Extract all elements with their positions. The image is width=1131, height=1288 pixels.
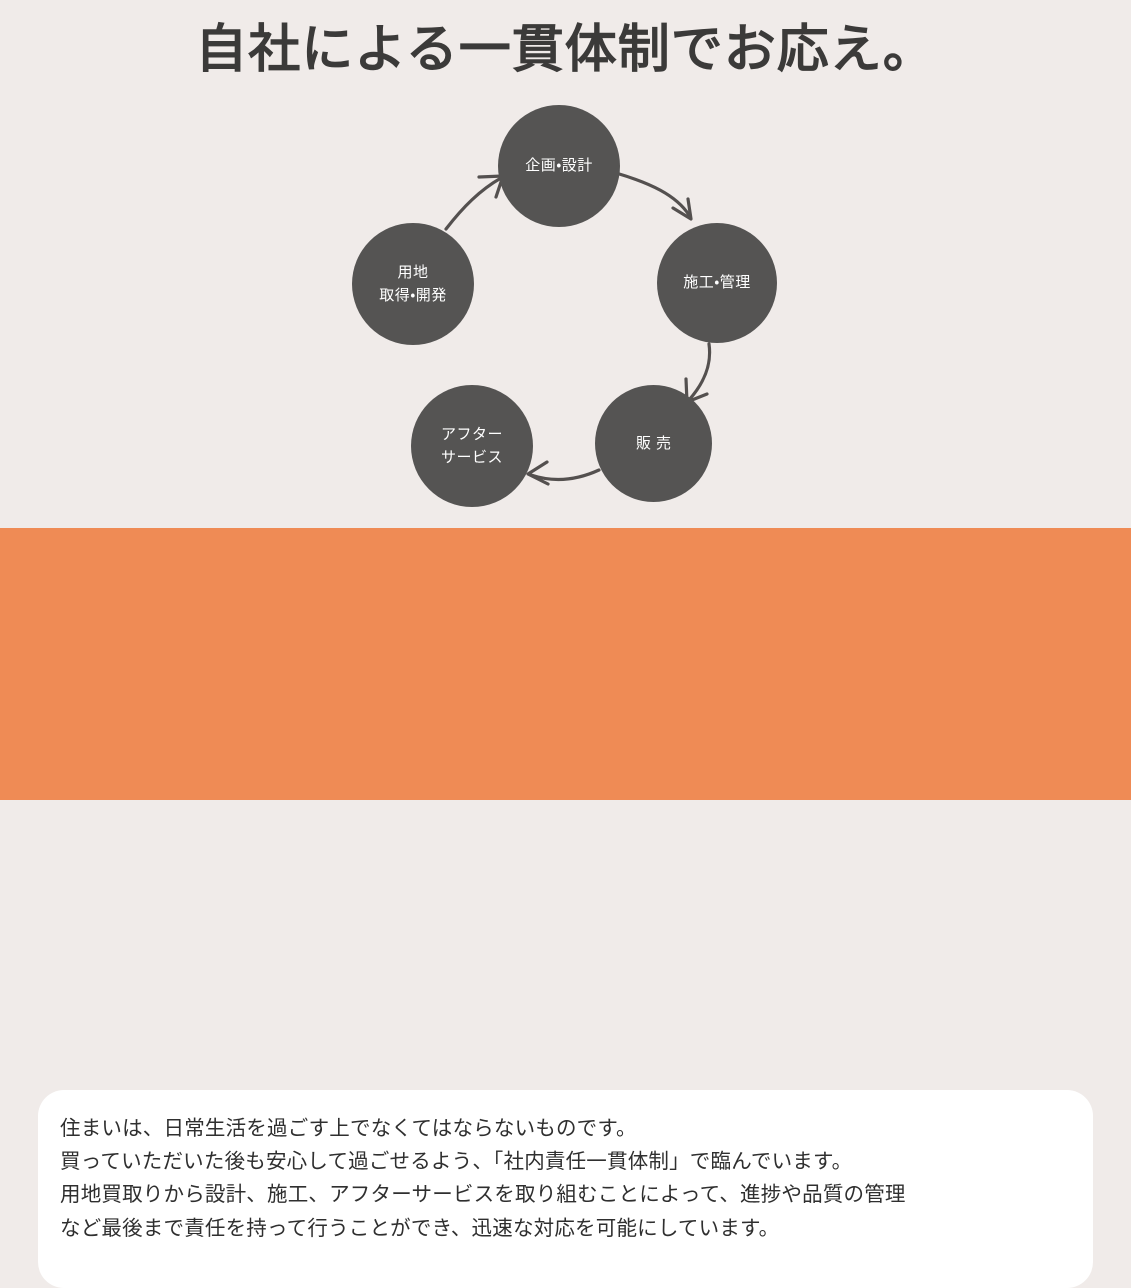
node-after-service[interactable]: アフター サービス [411,385,533,507]
arrow-sekou-to-hanbai [686,344,710,402]
node-youchi-shutoku-kaihatsu[interactable]: 用地 取得・開発 [352,223,474,345]
page-root: 自社による一貫体制でお応え。 [0,0,1131,800]
arrow-kikaku-to-sekou [616,173,691,219]
description-card: 住まいは、日常生活を過ごす上でなくてはならないものです。 買っていただいた後も安… [38,1090,1093,1288]
node-sekou-kanri[interactable]: 施工・管理 [657,223,777,343]
description-line-3: 用地買取りから設計、施工、アフターサービスを取り組むことによって、進捗や品質の管… [60,1178,1067,1211]
node-hanbai[interactable]: 販売 [595,385,712,502]
arrow-youchi-to-kikaku [446,176,503,229]
node-kikaku-sekkei[interactable]: 企画・設計 [498,105,620,227]
description-line-4: など最後まで責任を持って行うことができ、迅速な対応を可能にしています。 [60,1212,1067,1245]
node-youchi-label-line1: 用地 [397,261,428,284]
node-after-service-label-line2: サービス [441,446,503,469]
description-line-1: 住まいは、日常生活を過ごす上でなくてはならないものです。 [60,1112,1067,1145]
description-line-2: 買っていただいた後も安心して過ごせるよう、「社内責任一貫体制」で臨んでいます。 [60,1145,1067,1178]
node-after-service-label-line1: アフター [441,423,503,446]
node-sekou-kanri-label: 施工・管理 [683,271,751,294]
arrow-hanbai-to-after [528,462,599,484]
node-youchi-label-line2: 取得・開発 [379,284,447,307]
node-kikaku-sekkei-label: 企画・設計 [525,154,593,177]
description-band: 住まいは、日常生活を過ごす上でなくてはならないものです。 買っていただいた後も安… [0,528,1131,800]
node-hanbai-label: 販売 [631,432,676,455]
page-title: 自社による一貫体制でお応え。 [0,18,1131,83]
process-cycle-diagram: 企画・設計 施工・管理 販売 アフター サービス 用地 取得・開発 [0,95,1131,525]
